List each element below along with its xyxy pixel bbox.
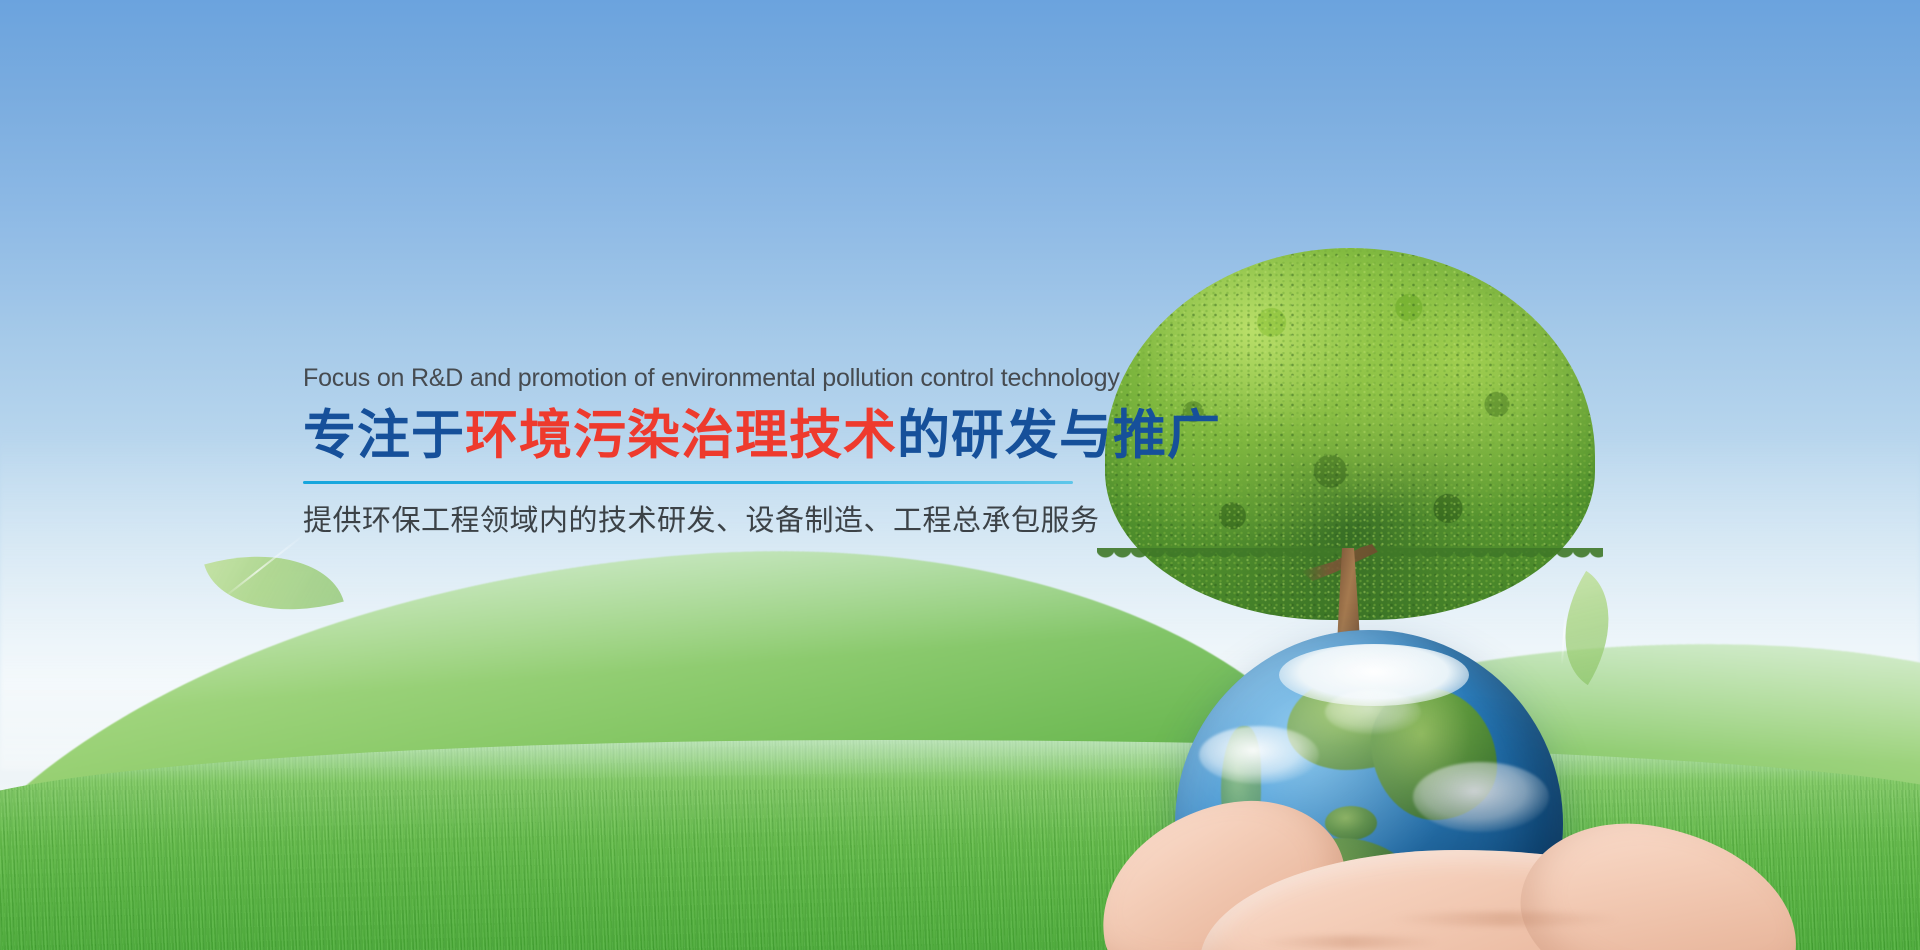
banner-headline: 专注于环境污染治理技术的研发与推广 [303,406,1103,466]
banner-eyebrow-english: Focus on R&D and promotion of environmen… [303,363,1103,394]
cupped-hands [1090,740,1830,950]
headline-divider [303,481,1073,484]
headline-highlight: 环境污染治理技术 [465,405,897,466]
hero-banner: Focus on R&D and promotion of environmen… [0,0,1920,950]
hand-right [1508,807,1811,950]
banner-subline: 提供环保工程领域内的技术研发、设备制造、工程总承包服务 [303,502,1103,540]
headline-trail: 的研发与推广 [897,405,1221,466]
finger-crease [1390,912,1620,926]
finger-crease [1260,936,1440,948]
banner-copy: Focus on R&D and promotion of environmen… [303,363,1103,539]
headline-lead: 专注于 [303,405,465,466]
